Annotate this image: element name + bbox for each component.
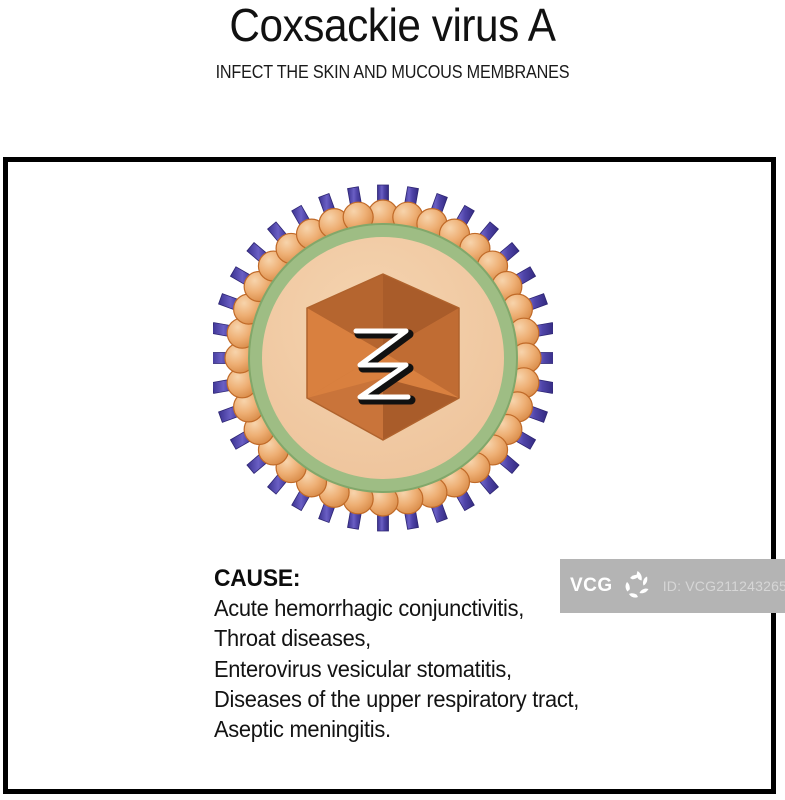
cause-item: Enterovirus vesicular stomatitis,	[214, 654, 651, 684]
vcg-watermark-id: ID: VCG211243265646	[663, 578, 785, 594]
cause-item: Throat diseases,	[214, 623, 651, 653]
page-title: Coxsackie virus A	[31, 0, 753, 52]
cause-item: Diseases of the upper respiratory tract,	[214, 684, 651, 714]
vcg-logo-text: VCG	[570, 575, 613, 597]
page-subtitle: INFECT THE SKIN AND MUCOUS MEMBRANES	[39, 62, 746, 83]
cause-item: Aseptic meningitis.	[214, 714, 651, 744]
vcg-flower-icon	[617, 566, 657, 606]
vcg-watermark: VCG ID: VCG211243265646	[560, 559, 785, 613]
virus-illustration	[213, 182, 553, 542]
infographic-root: Coxsackie virus A INFECT THE SKIN AND MU…	[0, 0, 785, 800]
